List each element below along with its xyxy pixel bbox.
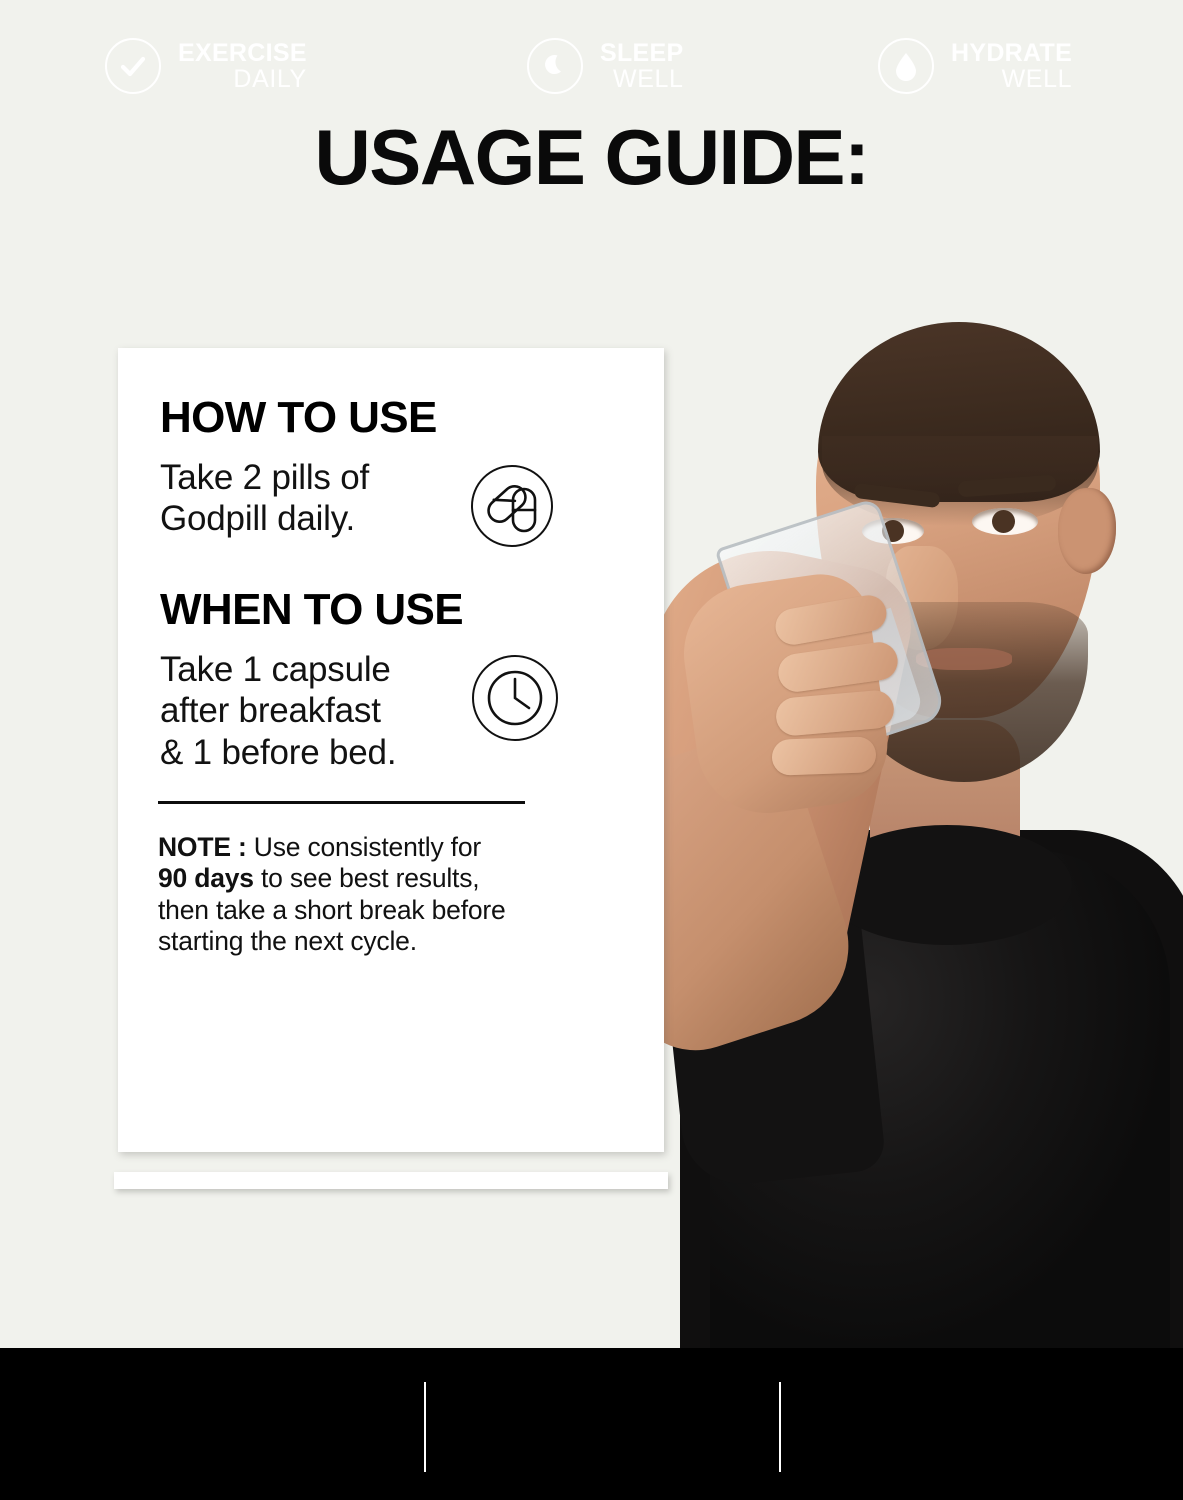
benefit-item-sleep: SLEEP WELL — [527, 38, 683, 94]
when-to-use-heading: WHEN TO USE — [160, 588, 463, 632]
card-divider — [158, 801, 525, 804]
when-to-use-body-line-2: after breakfast — [160, 690, 463, 731]
when-to-use-body-line-1: Take 1 capsule — [160, 649, 463, 690]
water-drop-icon — [878, 38, 934, 94]
how-to-use-body: Take 2 pills of Godpill daily. — [160, 457, 437, 540]
section-when-to-use: WHEN TO USE Take 1 capsule after breakfa… — [160, 588, 463, 773]
benefit-title-hydrate: HYDRATE — [951, 40, 1072, 67]
bottom-bar-divider-2 — [779, 1382, 781, 1472]
pills-icon — [471, 465, 553, 547]
page-title: USAGE GUIDE: — [0, 118, 1183, 196]
when-to-use-body-line-3: & 1 before bed. — [160, 732, 463, 773]
note-text: NOTE : Use consistently for 90 days to s… — [158, 832, 508, 957]
card-bottom-strip — [114, 1172, 668, 1189]
photo-ear — [1058, 488, 1116, 574]
note-text-before: Use consistently for — [247, 832, 481, 862]
how-to-use-body-line-2: Godpill daily. — [160, 498, 437, 539]
photo-finger-4 — [771, 736, 876, 776]
benefit-label-sleep: SLEEP WELL — [600, 40, 683, 93]
note-label: NOTE : — [158, 832, 247, 862]
section-how-to-use: HOW TO USE Take 2 pills of Godpill daily… — [160, 396, 437, 540]
benefit-sub-exercise: DAILY — [178, 66, 307, 93]
moon-icon — [527, 38, 583, 94]
benefit-sub-sleep: WELL — [600, 66, 683, 93]
benefit-item-hydrate: HYDRATE WELL — [878, 38, 1072, 94]
note-bold-term: 90 days — [158, 863, 254, 893]
bottom-benefits-bar — [0, 1348, 1183, 1500]
benefit-label-exercise: EXERCISE DAILY — [178, 40, 307, 93]
when-to-use-body: Take 1 capsule after breakfast & 1 befor… — [160, 649, 463, 773]
how-to-use-heading: HOW TO USE — [160, 396, 437, 440]
bottom-bar-divider-1 — [424, 1382, 426, 1472]
benefit-title-sleep: SLEEP — [600, 40, 683, 67]
clock-icon — [472, 655, 558, 741]
photo-pupil-right — [992, 510, 1015, 533]
benefit-title-exercise: EXERCISE — [178, 40, 307, 67]
how-to-use-body-line-1: Take 2 pills of — [160, 457, 437, 498]
benefit-label-hydrate: HYDRATE WELL — [951, 40, 1072, 93]
check-icon — [105, 38, 161, 94]
benefit-sub-hydrate: WELL — [951, 66, 1072, 93]
benefit-item-exercise: EXERCISE DAILY — [105, 38, 307, 94]
